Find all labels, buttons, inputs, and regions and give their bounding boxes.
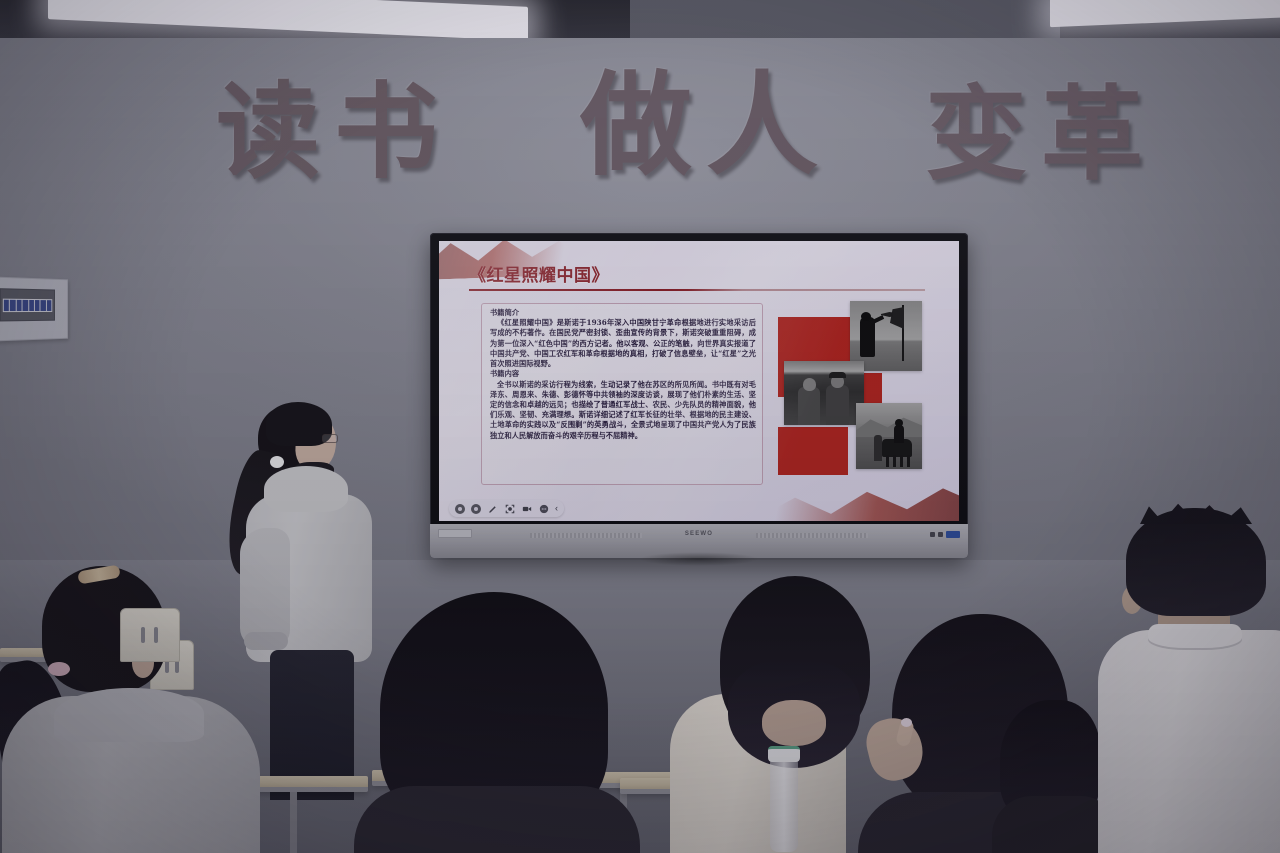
more-options-icon[interactable] (538, 503, 549, 514)
collapse-left-icon[interactable]: ‹ (555, 504, 558, 513)
front-port-cluster[interactable] (912, 529, 960, 539)
shirt-collar (1148, 624, 1242, 650)
record-dot-secondary-icon[interactable] (471, 504, 481, 514)
display-screen[interactable]: 《红星照耀中国》 书籍简介 《红星照耀中国》是斯诺于1936年深入中国陕甘宁革命… (439, 241, 959, 521)
classroom-scene: 读 书 做 人 变 革 《红星照耀 (0, 0, 1280, 853)
red-block (778, 427, 848, 475)
pen-icon[interactable] (487, 503, 498, 514)
water-bottle (770, 758, 798, 852)
seated-student-left-center (364, 592, 626, 853)
desk-leg (290, 792, 297, 853)
screenshot-icon[interactable] (504, 503, 515, 514)
photo-collage (772, 299, 932, 491)
chair-slot (141, 627, 145, 643)
bottle-cap (768, 746, 800, 762)
hair-tie (270, 456, 284, 468)
whiteboard-floating-toolbar[interactable]: ‹ (449, 500, 564, 517)
slide-content-box: 书籍简介 《红星照耀中国》是斯诺于1936年深入中国陕甘宁革命根据地进行实地采访… (481, 303, 763, 485)
student-desk (248, 776, 368, 792)
hair-tie (48, 662, 70, 676)
electrical-breaker-panel (0, 277, 68, 342)
speaker-grille-right (756, 533, 868, 538)
photo-horseback-rider (856, 403, 922, 469)
section-body-intro: 《红星照耀中国》是斯诺于1936年深入中国陕甘宁革命根据地进行实地采访后写成的不… (490, 318, 756, 369)
seated-student-right-boy (1092, 508, 1280, 853)
title-underline (469, 289, 925, 291)
photo-two-soldiers (784, 361, 864, 425)
section-heading-intro: 书籍简介 (490, 308, 756, 318)
interactive-whiteboard[interactable]: 《红星照耀中国》 书籍简介 《红星照耀中国》是斯诺于1936年深入中国陕甘宁革命… (430, 233, 968, 558)
section-heading-content: 书籍内容 (490, 369, 756, 379)
breaker-switch-row (3, 299, 52, 312)
chair-back (120, 608, 180, 662)
speaker-grille-left (530, 533, 642, 538)
bezel-label-plate (438, 529, 472, 538)
chair-slot (154, 627, 158, 643)
seated-student-front-left (14, 556, 264, 853)
wall-mount-shadow (639, 552, 759, 566)
breaker-window (0, 288, 55, 321)
eyeglasses (322, 434, 338, 443)
screen-record-icon[interactable] (521, 503, 532, 514)
brand-logo: SEEWO (685, 531, 713, 537)
slide-title: 《红星照耀中国》 (469, 261, 609, 286)
record-dot-icon[interactable] (455, 504, 465, 514)
hoodie-hood (54, 688, 204, 742)
hoodie-hood (264, 466, 348, 512)
section-body-content: 全书以斯诺的采访行程为线索，生动记录了他在苏区的所见所闻。书中既有对毛泽东、周恩… (490, 380, 756, 441)
